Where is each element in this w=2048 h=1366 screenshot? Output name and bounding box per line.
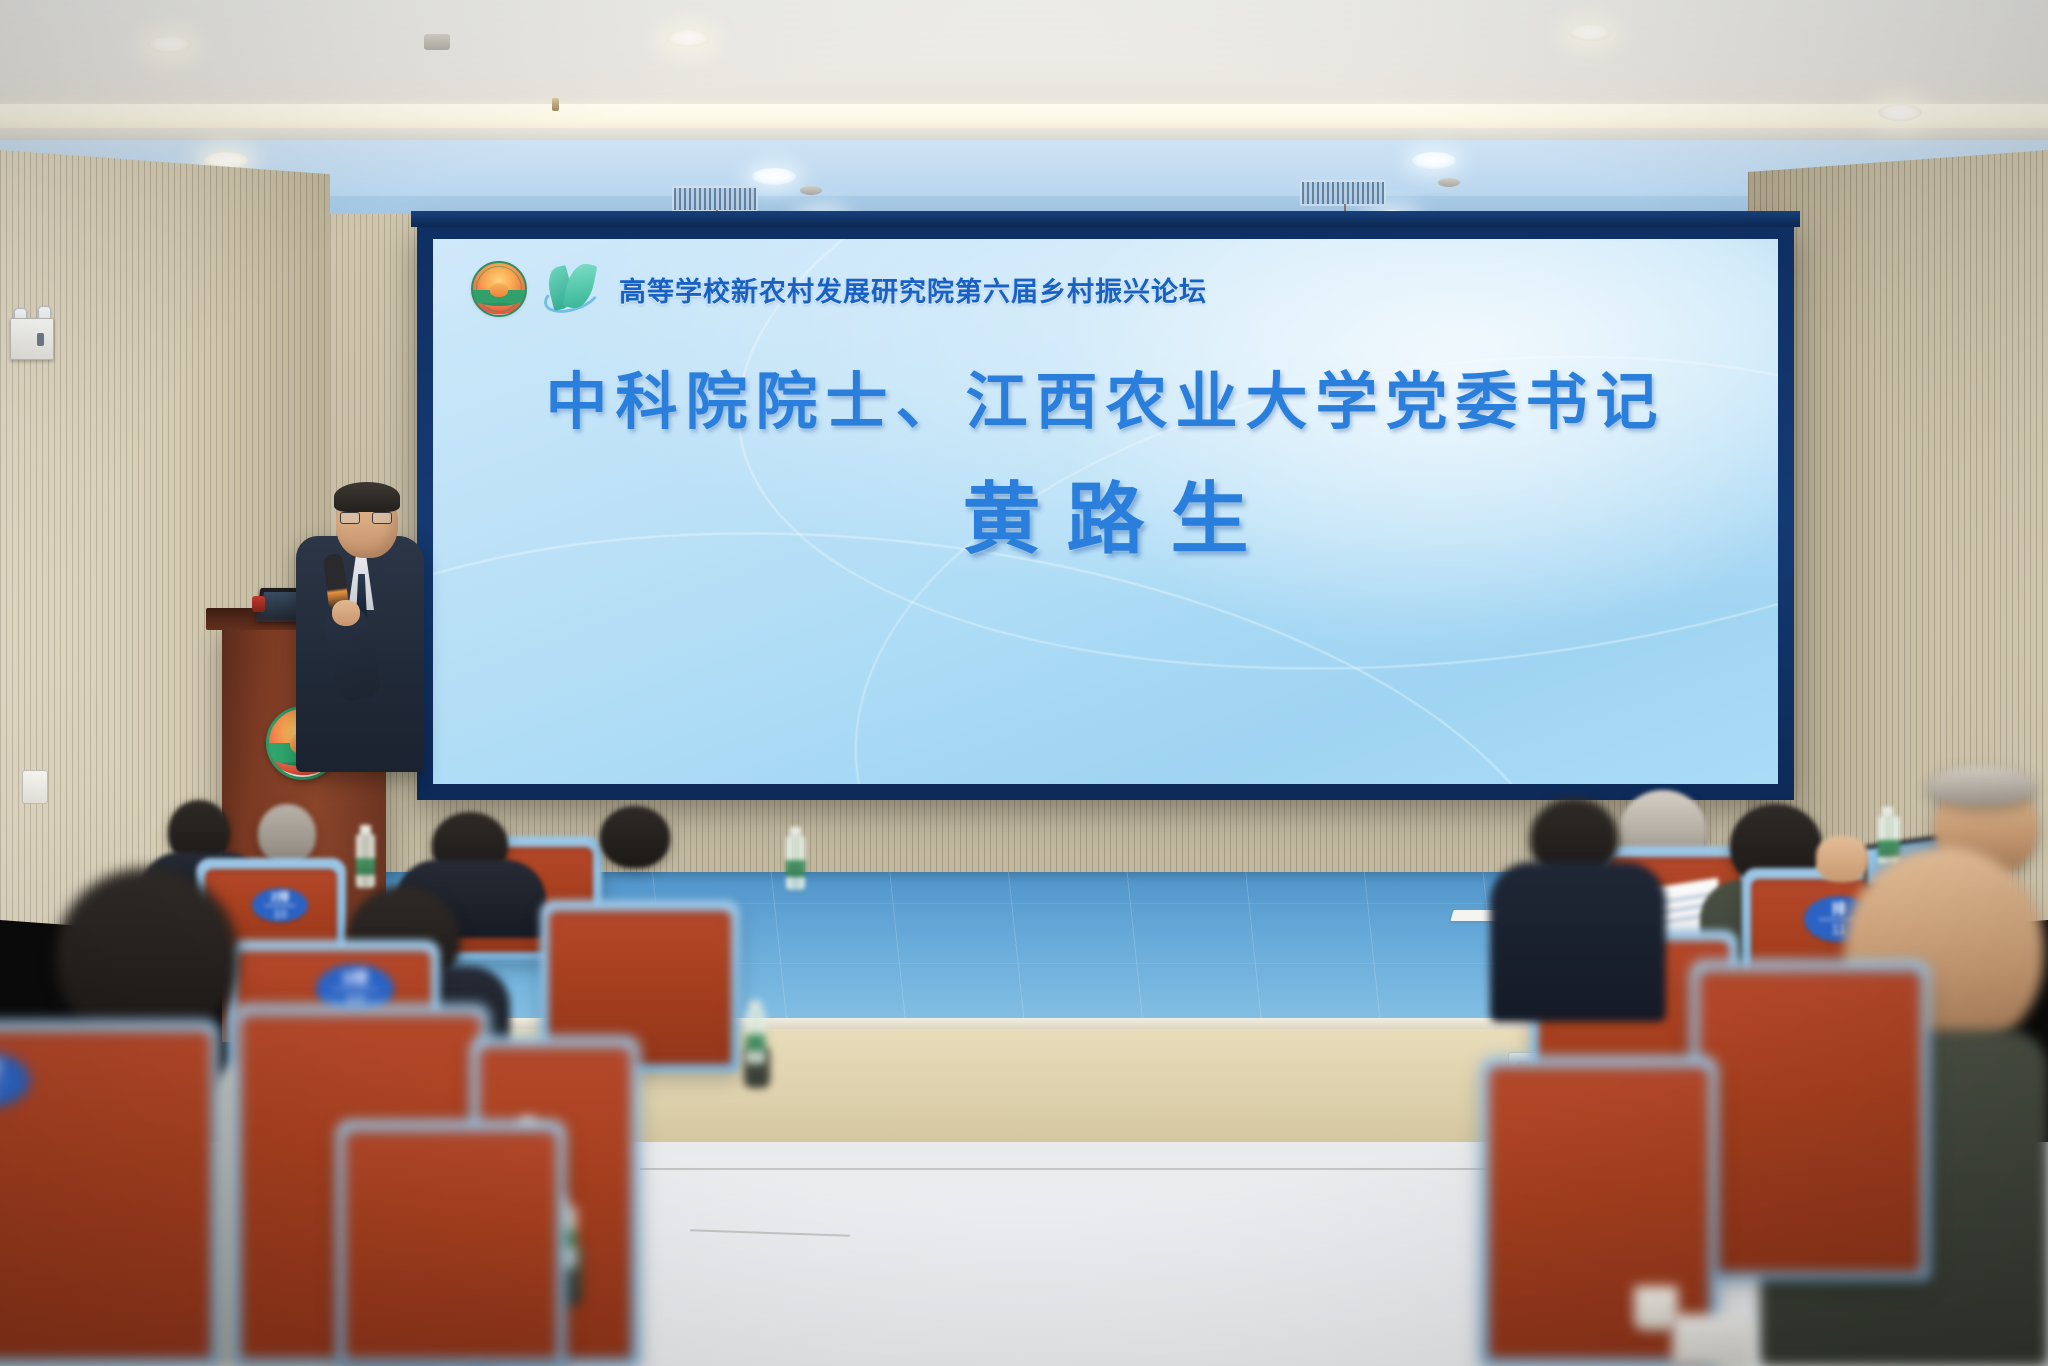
audience-shoulders xyxy=(1490,862,1666,1022)
water-bottle xyxy=(356,834,375,888)
bottle-label xyxy=(356,858,375,875)
seat-row-label: 3排 xyxy=(342,970,368,987)
leaf-green-right xyxy=(563,261,598,311)
podium-mic-base-icon xyxy=(252,596,265,612)
hvac-vent-icon xyxy=(672,186,758,212)
audience-head xyxy=(56,868,238,1044)
slide-title-line: 中科院院士、江西农业大学党委书记 xyxy=(433,351,1778,441)
bottle-label xyxy=(786,860,805,877)
tag-rule xyxy=(265,905,295,906)
tag-rule xyxy=(332,989,378,990)
ceiling-speaker-icon xyxy=(424,34,450,50)
seat-cushion xyxy=(345,1131,557,1358)
tote-bag xyxy=(1672,1314,1750,1366)
smoke-detector-icon xyxy=(1438,178,1460,187)
seat-row-label: 2排 xyxy=(0,1059,1,1078)
sprinkler-head-icon xyxy=(552,98,559,111)
seat-row-label: 2排 xyxy=(271,891,290,903)
seat-row-label: 排 xyxy=(1831,902,1846,917)
speaker-hair xyxy=(334,482,400,512)
speaker-hand xyxy=(332,600,360,626)
forum-leaf-mark-icon xyxy=(543,263,603,315)
cove-light-strip xyxy=(0,104,2048,130)
control-knob-icon[interactable] xyxy=(37,333,44,346)
seat-number-tag: 2排 10 xyxy=(252,888,308,922)
water-bottle xyxy=(786,836,805,890)
smoke-detector-icon xyxy=(800,186,822,195)
seat-number-label: 10 xyxy=(273,908,286,920)
audience-hand xyxy=(1816,836,1868,882)
audience-head xyxy=(600,806,670,868)
audience-head xyxy=(258,804,316,864)
bottle-label xyxy=(1878,840,1900,857)
wall-control-panel[interactable] xyxy=(10,318,54,360)
lens-left xyxy=(340,512,360,524)
slide-header: 高等学校新农村发展研究院第六届乡村振兴论坛 xyxy=(471,261,1207,317)
downlight-icon xyxy=(1568,24,1612,41)
seat-cushion xyxy=(0,1031,211,1358)
audience-hair xyxy=(1928,766,2036,806)
emblem-leaf-band xyxy=(471,290,527,306)
auditorium-photo: 高等学校新农村发展研究院第六届乡村振兴论坛 中科院院士、江西农业大学党委书记 黄… xyxy=(0,0,2048,1366)
slide-header-text: 高等学校新农村发展研究院第六届乡村振兴论坛 xyxy=(619,270,1207,309)
slide-speaker-name: 黄路生 xyxy=(433,457,1778,569)
water-bottle xyxy=(746,1010,765,1064)
eyeglasses-icon xyxy=(340,512,394,525)
bottle-label xyxy=(746,1034,765,1051)
seat[interactable]: 2排 10 xyxy=(0,1020,220,1366)
downlight-icon xyxy=(1878,104,1922,121)
seat[interactable] xyxy=(336,1120,566,1366)
tag-rule xyxy=(0,1080,11,1081)
wall-outlet-icon xyxy=(22,770,48,804)
lens-right xyxy=(372,512,392,524)
downlight-icon xyxy=(1412,152,1456,169)
hvac-vent-icon xyxy=(1300,180,1386,206)
seat-cushion xyxy=(1699,971,1921,1272)
university-emblem-icon xyxy=(471,261,527,317)
projection-screen-frame: 高等学校新农村发展研究院第六届乡村振兴论坛 中科院院士、江西农业大学党委书记 黄… xyxy=(417,225,1794,800)
presentation-slide: 高等学校新农村发展研究院第六届乡村振兴论坛 中科院院士、江西农业大学党委书记 黄… xyxy=(433,239,1778,784)
downlight-icon xyxy=(752,168,796,185)
downlight-icon xyxy=(666,30,710,47)
ceiling-soffit xyxy=(0,0,2048,118)
downlight-icon xyxy=(148,36,192,53)
seat[interactable] xyxy=(1690,960,1930,1280)
